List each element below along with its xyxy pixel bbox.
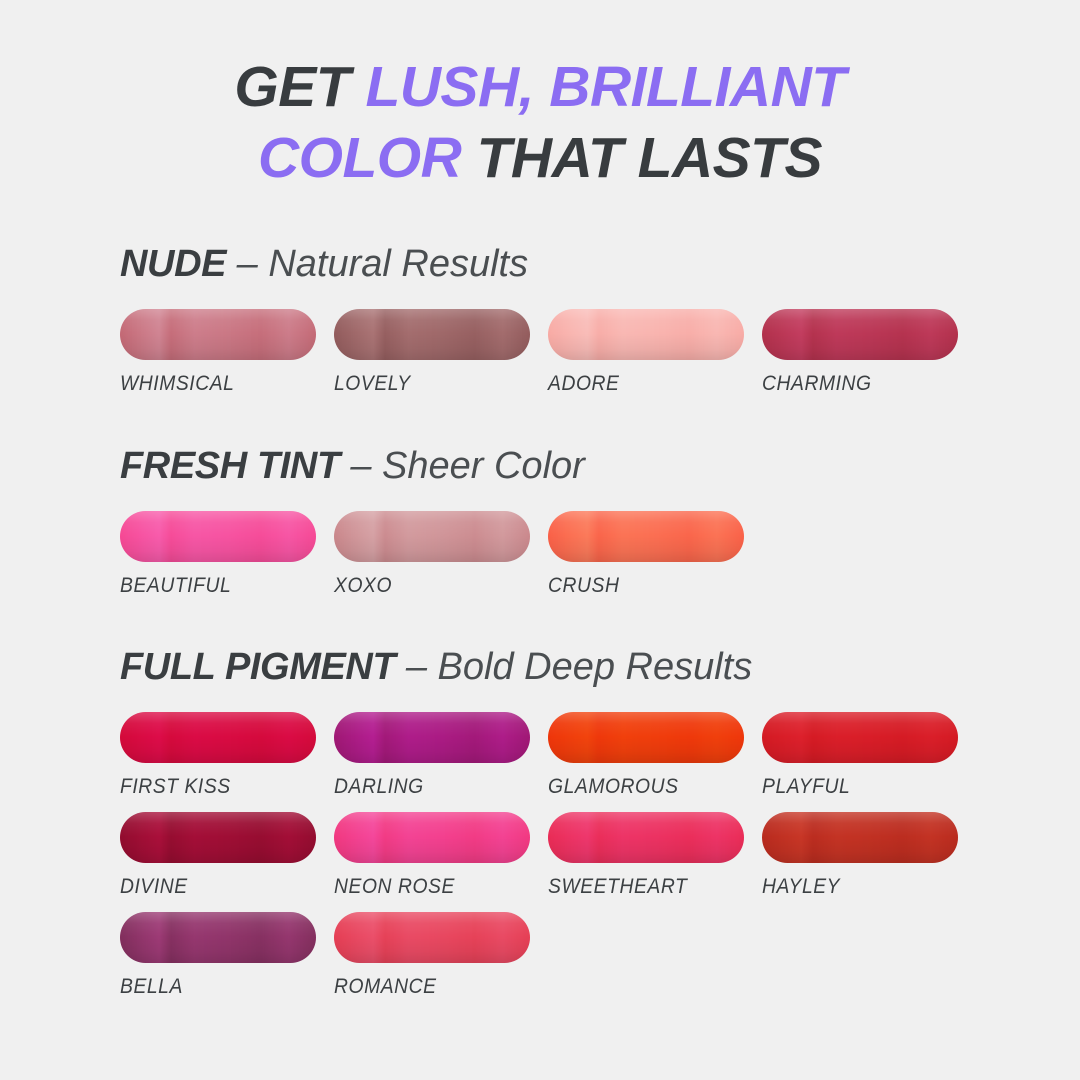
swatch-color-chip[interactable] <box>334 912 530 963</box>
headline-line-1: GET LUSH, BRILLIANT <box>0 52 1080 123</box>
headline-text-accent-1: LUSH, BRILLIANT <box>365 55 845 119</box>
swatch-item[interactable]: FIRST KISS <box>120 712 316 799</box>
swatch-color-chip[interactable] <box>548 511 744 562</box>
section-title: NUDE – Natural Results <box>120 245 528 283</box>
section-category-label: FULL PIGMENT <box>120 646 395 688</box>
section-category-label: FRESH TINT <box>120 445 340 487</box>
swatch-name-label: GLAMOROUS <box>548 775 728 799</box>
shade-section-nude: NUDE – Natural ResultsWHIMSICALLOVELYADO… <box>120 245 528 409</box>
swatch-item[interactable]: WHIMSICAL <box>120 309 316 396</box>
swatch-name-label: NEON ROSE <box>334 875 514 899</box>
swatch-name-label: PLAYFUL <box>762 775 942 799</box>
swatch-row: DIVINENEON ROSESWEETHEARTHAYLEY <box>120 812 752 912</box>
swatch-row: BELLAROMANCE <box>120 912 752 1012</box>
headline-text-accent-2: COLOR <box>258 126 461 190</box>
section-separator: – <box>395 646 437 688</box>
swatch-grid: BEAUTIFULXOXOCRUSH <box>120 511 585 611</box>
section-description-label: Bold Deep Results <box>438 646 753 688</box>
swatch-name-label: FIRST KISS <box>120 775 300 799</box>
shade-section-fresh-tint: FRESH TINT – Sheer ColorBEAUTIFULXOXOCRU… <box>120 447 585 611</box>
swatch-item[interactable]: CHARMING <box>762 309 958 396</box>
swatch-item[interactable]: GLAMOROUS <box>548 712 744 799</box>
swatch-name-label: DARLING <box>334 775 514 799</box>
swatch-color-chip[interactable] <box>762 712 958 763</box>
swatch-name-label: WHIMSICAL <box>120 372 300 396</box>
headline-text-dark-1: GET <box>234 55 365 119</box>
swatch-item[interactable]: NEON ROSE <box>334 812 530 899</box>
page-headline: GET LUSH, BRILLIANT COLOR THAT LASTS <box>0 52 1080 193</box>
swatch-color-chip[interactable] <box>120 712 316 763</box>
swatch-item[interactable]: CRUSH <box>548 511 744 598</box>
swatch-color-chip[interactable] <box>334 511 530 562</box>
swatch-item[interactable]: PLAYFUL <box>762 712 958 799</box>
swatch-item[interactable]: DARLING <box>334 712 530 799</box>
swatch-row: BEAUTIFULXOXOCRUSH <box>120 511 585 611</box>
swatch-item[interactable]: BELLA <box>120 912 316 999</box>
swatch-name-label: BEAUTIFUL <box>120 574 300 598</box>
swatch-item[interactable]: ROMANCE <box>334 912 530 999</box>
swatch-color-chip[interactable] <box>120 912 316 963</box>
swatch-grid: WHIMSICALLOVELYADORECHARMING <box>120 309 528 409</box>
swatch-color-chip[interactable] <box>120 812 316 863</box>
swatch-row: WHIMSICALLOVELYADORECHARMING <box>120 309 528 409</box>
swatch-item[interactable]: LOVELY <box>334 309 530 396</box>
swatch-color-chip[interactable] <box>548 812 744 863</box>
swatch-color-chip[interactable] <box>120 511 316 562</box>
shade-section-full-pigment: FULL PIGMENT – Bold Deep ResultsFIRST KI… <box>120 648 752 1012</box>
headline-text-dark-2: THAT LASTS <box>461 126 822 190</box>
swatch-grid: FIRST KISSDARLINGGLAMOROUSPLAYFULDIVINEN… <box>120 712 752 1012</box>
section-description-label: Natural Results <box>268 243 528 285</box>
swatch-item[interactable]: DIVINE <box>120 812 316 899</box>
swatch-name-label: BELLA <box>120 975 300 999</box>
swatch-color-chip[interactable] <box>120 309 316 360</box>
swatch-color-chip[interactable] <box>334 812 530 863</box>
swatch-color-chip[interactable] <box>548 712 744 763</box>
headline-line-2: COLOR THAT LASTS <box>0 123 1080 194</box>
swatch-color-chip[interactable] <box>334 712 530 763</box>
section-category-label: NUDE <box>120 243 226 285</box>
swatch-color-chip[interactable] <box>334 309 530 360</box>
swatch-name-label: HAYLEY <box>762 875 942 899</box>
section-title: FULL PIGMENT – Bold Deep Results <box>120 648 752 686</box>
swatch-color-chip[interactable] <box>762 309 958 360</box>
swatch-item[interactable]: BEAUTIFUL <box>120 511 316 598</box>
swatch-color-chip[interactable] <box>762 812 958 863</box>
section-separator: – <box>340 445 382 487</box>
swatch-item[interactable]: SWEETHEART <box>548 812 744 899</box>
swatch-name-label: ADORE <box>548 372 728 396</box>
section-separator: – <box>226 243 268 285</box>
swatch-item[interactable]: HAYLEY <box>762 812 958 899</box>
swatch-color-chip[interactable] <box>548 309 744 360</box>
swatch-name-label: XOXO <box>334 574 514 598</box>
swatch-name-label: DIVINE <box>120 875 300 899</box>
swatch-name-label: LOVELY <box>334 372 514 396</box>
swatch-row: FIRST KISSDARLINGGLAMOROUSPLAYFUL <box>120 712 752 812</box>
swatch-name-label: SWEETHEART <box>548 875 728 899</box>
section-title: FRESH TINT – Sheer Color <box>120 447 585 485</box>
section-description-label: Sheer Color <box>382 445 585 487</box>
swatch-item[interactable]: ADORE <box>548 309 744 396</box>
swatch-name-label: CHARMING <box>762 372 942 396</box>
swatch-item[interactable]: XOXO <box>334 511 530 598</box>
swatch-name-label: ROMANCE <box>334 975 514 999</box>
swatch-name-label: CRUSH <box>548 574 728 598</box>
